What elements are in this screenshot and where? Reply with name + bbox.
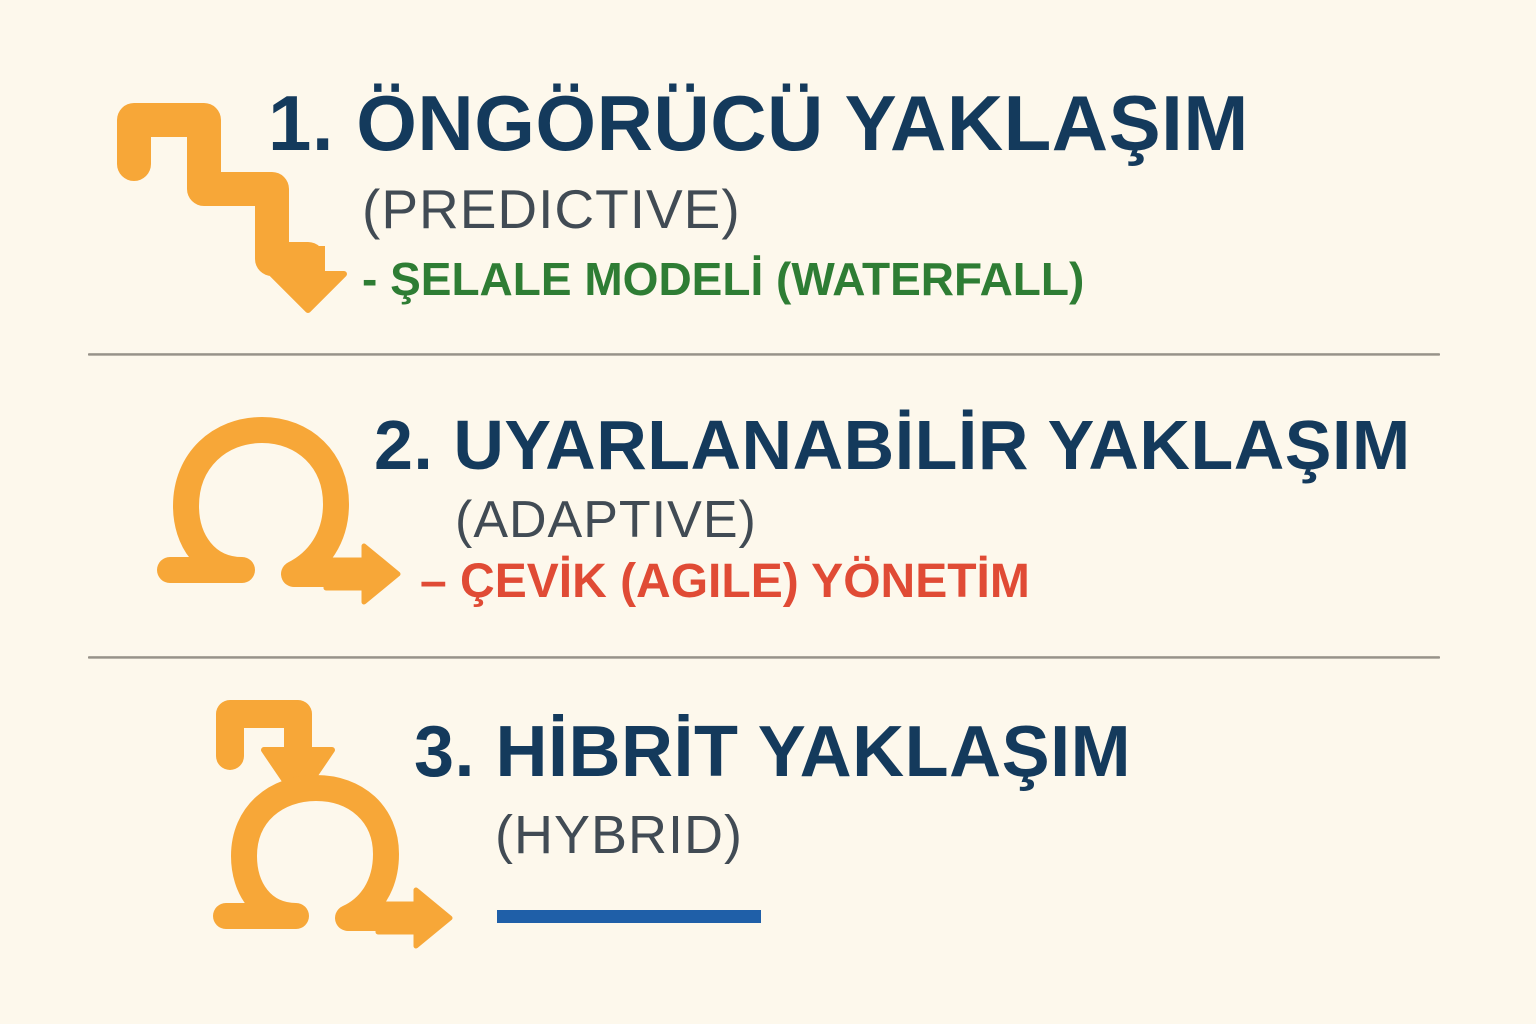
section-1-title: 1. ÖNGÖRÜCÜ YAKLAŞIM: [268, 84, 1249, 162]
section-3-subtitle: (HYBRID): [495, 808, 743, 862]
section-3-blue-rule: [497, 910, 761, 923]
section-1-tagline: - ŞELALE MODELİ (WATERFALL): [362, 256, 1084, 302]
section-divider-1: [88, 353, 1440, 356]
agile-sprint-loop-arrow-icon: [158, 412, 406, 598]
section-3-title: 3. HİBRİT YAKLAŞIM: [414, 716, 1131, 788]
section-2-title: 2. UYARLANABİLİR YAKLAŞIM: [374, 410, 1411, 480]
section-2-tagline: – ÇEVİK (AGILE) YÖNETİM: [420, 558, 1030, 606]
infographic-canvas: 1. ÖNGÖRÜCÜ YAKLAŞIM (PREDICTIVE) - ŞELA…: [0, 0, 1536, 1024]
section-1-subtitle: (PREDICTIVE): [362, 182, 741, 237]
section-divider-2: [88, 656, 1440, 659]
section-2-subtitle: (ADAPTIVE): [455, 494, 757, 546]
